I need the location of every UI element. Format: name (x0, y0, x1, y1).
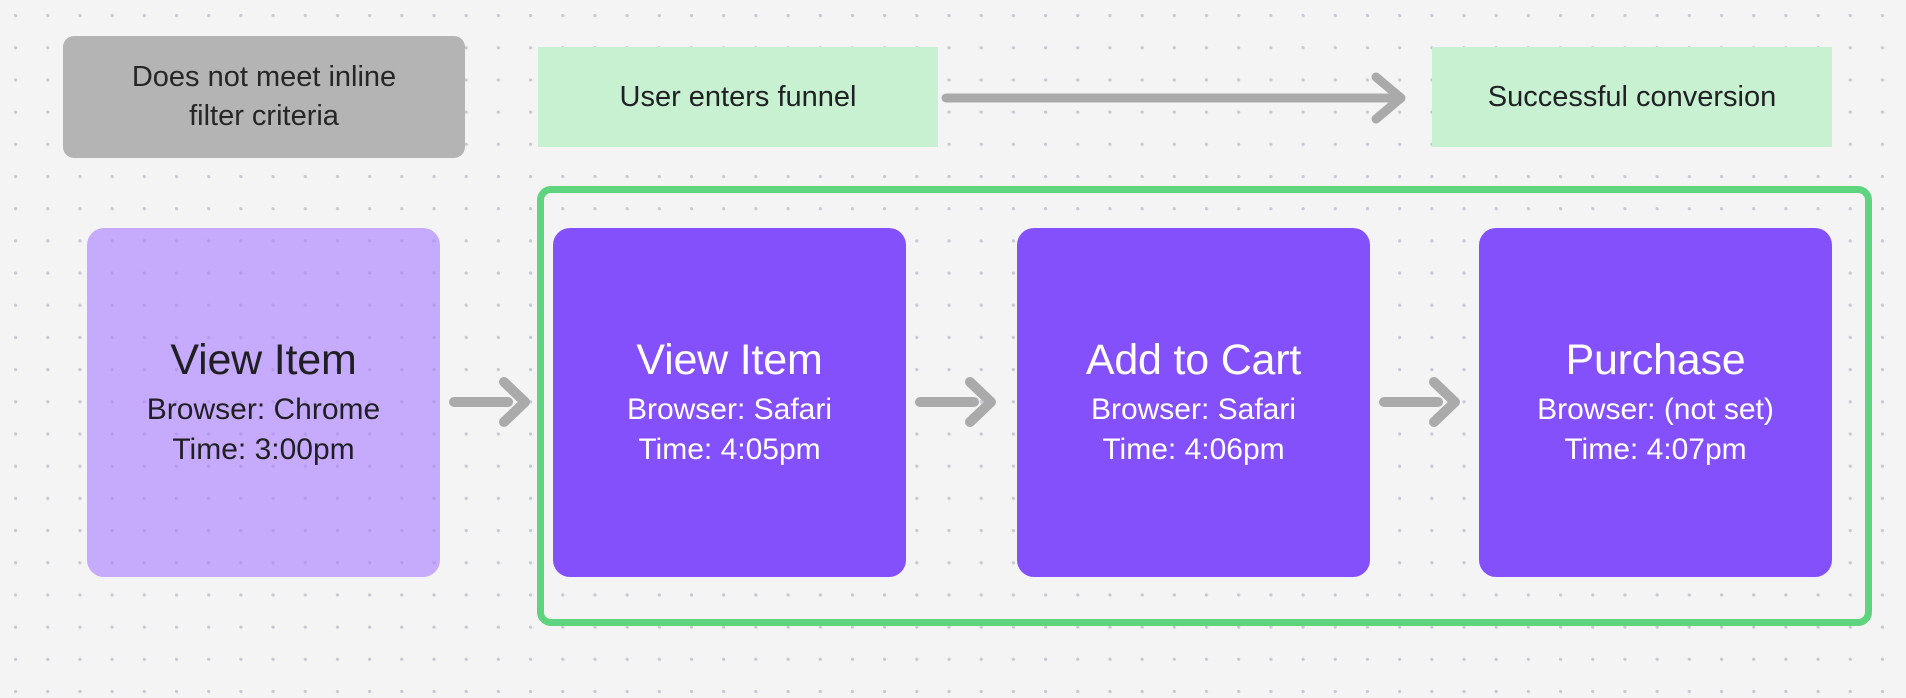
step-title: View Item (170, 335, 356, 386)
step-title: View Item (636, 335, 822, 386)
step-browser: Browser: Chrome (147, 390, 380, 430)
arrow-right-icon (944, 74, 1428, 122)
funnel-step-card-2[interactable]: Add to Cart Browser: Safari Time: 4:06pm (1017, 228, 1370, 577)
step-time: Time: 3:00pm (172, 430, 354, 470)
legend-excluded-criteria: Does not meet inline filter criteria (63, 36, 465, 158)
step-browser: Browser: Safari (1091, 390, 1296, 430)
funnel-step-card-1[interactable]: View Item Browser: Safari Time: 4:05pm (553, 228, 906, 577)
step-time: Time: 4:07pm (1564, 430, 1746, 470)
legend-excluded-label: Does not meet inline filter criteria (132, 58, 396, 135)
legend-excluded-line1: Does not meet inline (132, 61, 396, 93)
arrow-right-icon (450, 378, 536, 426)
legend-user-enters-funnel: User enters funnel (538, 47, 938, 147)
step-title: Add to Cart (1086, 335, 1301, 386)
flow-arrow-0-to-1 (450, 378, 536, 426)
step-time: Time: 4:06pm (1102, 430, 1284, 470)
legend-successful-conversion: Successful conversion (1432, 47, 1832, 147)
flow-arrow-1-to-2 (916, 378, 1002, 426)
diagram-canvas: Does not meet inline filter criteria Use… (0, 0, 1906, 698)
legend-flow-arrow (944, 74, 1428, 122)
arrow-right-icon (916, 378, 1002, 426)
funnel-step-card-0[interactable]: View Item Browser: Chrome Time: 3:00pm (87, 228, 440, 577)
step-title: Purchase (1565, 335, 1745, 386)
legend-conversion-label: Successful conversion (1488, 81, 1777, 114)
funnel-step-card-3[interactable]: Purchase Browser: (not set) Time: 4:07pm (1479, 228, 1832, 577)
arrow-right-icon (1380, 378, 1466, 426)
legend-excluded-line2: filter criteria (189, 100, 339, 132)
step-browser: Browser: Safari (627, 390, 832, 430)
step-time: Time: 4:05pm (638, 430, 820, 470)
legend-enter-label: User enters funnel (620, 81, 857, 114)
step-browser: Browser: (not set) (1537, 390, 1774, 430)
flow-arrow-2-to-3 (1380, 378, 1466, 426)
